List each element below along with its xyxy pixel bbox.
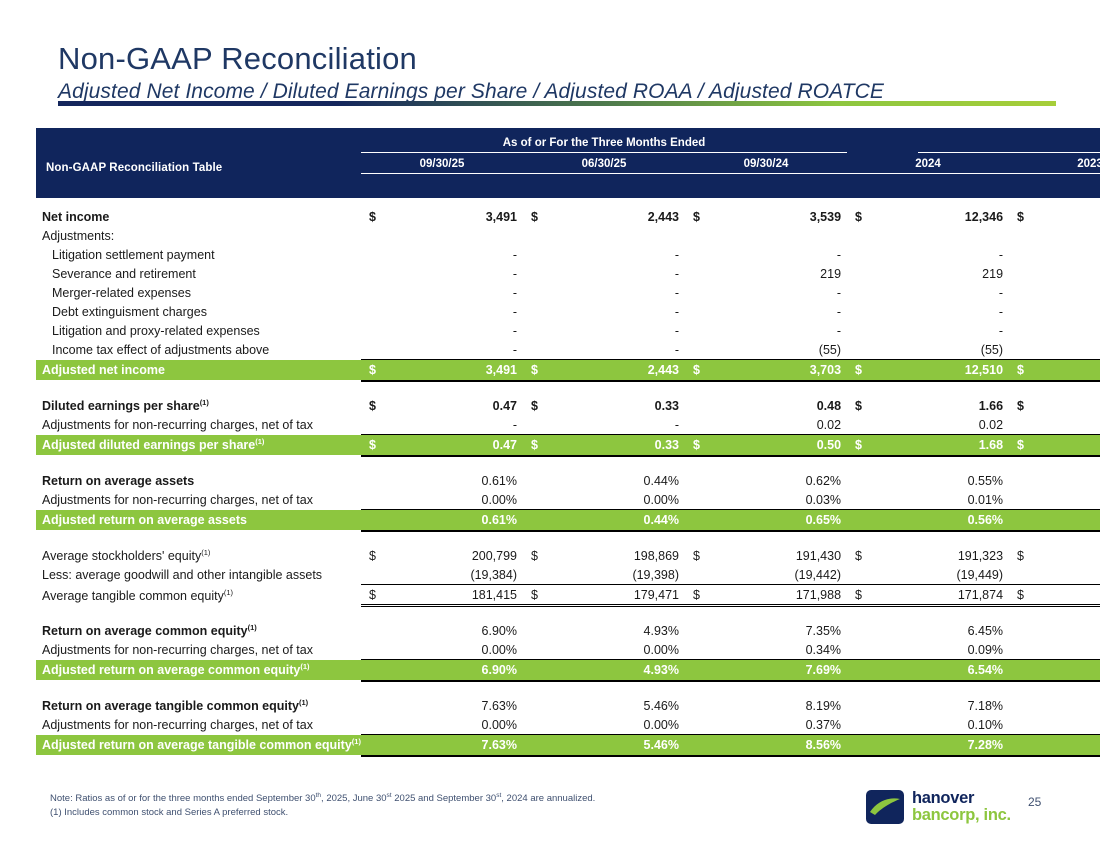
cell-currency — [1009, 715, 1080, 735]
logo-swoosh-icon — [866, 790, 904, 824]
table-row: Adjustments for non-recurring charges, n… — [36, 640, 1100, 660]
highlight-total-row: Adjusted return on average common equity… — [36, 660, 1100, 681]
cell-currency — [1009, 510, 1080, 531]
cell-value: 0.65% — [1080, 510, 1100, 531]
underline-seg — [918, 755, 1009, 756]
cell-value: 0.56% — [918, 510, 1009, 531]
cell-currency — [847, 735, 918, 756]
cell-currency: $ — [847, 396, 918, 415]
cell-currency — [685, 471, 756, 490]
cell-value: 8.24% — [1080, 735, 1100, 756]
cell-value: 12,346 — [918, 207, 1009, 226]
cell-currency: $ — [523, 546, 594, 565]
cell-currency — [685, 660, 756, 681]
cell-currency — [685, 490, 756, 510]
cell-currency — [361, 321, 432, 340]
row-label: Litigation and proxy-related expenses — [36, 321, 361, 340]
table-row: Diluted earnings per share(1)$0.47$0.330… — [36, 396, 1100, 415]
cell-currency — [361, 302, 432, 321]
cell-currency — [1009, 471, 1080, 490]
table-row: Adjustments for non-recurring charges, n… — [36, 415, 1100, 435]
cell-currency — [847, 715, 918, 735]
cell-currency — [361, 264, 432, 283]
row-label: Adjustments for non-recurring charges, n… — [36, 640, 361, 660]
cell-value: (19,442) — [756, 565, 847, 585]
cell-value: - — [1080, 283, 1100, 302]
cell-currency — [523, 510, 594, 531]
cell-currency: $ — [361, 360, 432, 381]
underline-seg — [594, 755, 685, 756]
cell-value: (19,384) — [432, 565, 523, 585]
cell-currency — [1009, 621, 1080, 640]
cell-value — [918, 226, 1009, 245]
highlight-total-row: Adjusted return on average tangible comm… — [36, 735, 1100, 756]
row-label: Adjusted return on average tangible comm… — [36, 735, 361, 756]
cell-value: 0.55% — [918, 471, 1009, 490]
cell-value: 6.45% — [918, 621, 1009, 640]
row-label: Net income — [36, 207, 361, 226]
title-block: Non-GAAP Reconciliation Adjusted Net Inc… — [58, 42, 1058, 104]
underline-seg — [756, 755, 847, 756]
cell-value: 191,430 — [756, 546, 847, 565]
cell-currency — [361, 640, 432, 660]
cell-value: - — [918, 302, 1009, 321]
cell-value: - — [756, 321, 847, 340]
underline-seg — [523, 755, 594, 756]
cell-value: 0.37% — [756, 715, 847, 735]
highlight-total-row: Adjusted diluted earnings per share(1)$0… — [36, 435, 1100, 456]
page-number: 25 — [1028, 795, 1041, 809]
cell-value: 219 — [756, 264, 847, 283]
spacer-cell — [36, 681, 1100, 696]
cell-currency: $ — [523, 585, 594, 606]
row-label: Average tangible common equity(1) — [36, 585, 361, 606]
cell-currency — [847, 245, 918, 264]
units-spacer — [36, 174, 361, 199]
page-title: Non-GAAP Reconciliation — [58, 42, 1058, 75]
cell-value: -0.09% — [1080, 715, 1100, 735]
cell-value: -0.01% — [1080, 490, 1100, 510]
spacer-cell — [36, 381, 1100, 396]
row-label: Average stockholders' equity(1) — [36, 546, 361, 565]
cell-currency — [361, 660, 432, 681]
cell-value: - — [432, 245, 523, 264]
cell-currency — [847, 302, 918, 321]
table-corner-label: Non-GAAP Reconciliation Table — [36, 128, 361, 174]
cell-value: 0.33 — [594, 435, 685, 456]
row-label: Litigation settlement payment — [36, 245, 361, 264]
cell-value: - — [594, 245, 685, 264]
table-row: Net income$3,491$2,443$3,539$12,346$13,5… — [36, 207, 1100, 226]
table-row: Less: average goodwill and other intangi… — [36, 565, 1100, 585]
cell-currency — [1009, 283, 1080, 302]
cell-value: 0.47 — [432, 435, 523, 456]
spacer-row — [36, 681, 1100, 696]
cell-value: - — [432, 283, 523, 302]
cell-currency — [523, 621, 594, 640]
cell-value — [432, 226, 523, 245]
cell-currency — [685, 715, 756, 735]
cell-currency: $ — [685, 585, 756, 606]
title-divider — [58, 101, 1056, 106]
total-underline-row — [36, 755, 1100, 756]
cell-value: 4.93% — [594, 660, 685, 681]
cell-value: 0.00% — [432, 640, 523, 660]
cell-currency: $ — [361, 207, 432, 226]
cell-currency — [685, 621, 756, 640]
row-label: Return on average common equity(1) — [36, 621, 361, 640]
cell-value: - — [594, 283, 685, 302]
cell-value: 7.28% — [918, 735, 1009, 756]
cell-value: (0.02) — [1080, 415, 1100, 435]
cell-value: 6.54% — [918, 660, 1009, 681]
spacer-cell — [36, 606, 1100, 622]
cell-currency — [523, 302, 594, 321]
cell-value: 0.02 — [756, 415, 847, 435]
cell-value: 182,700 — [1080, 546, 1100, 565]
cell-value: -0.08% — [1080, 640, 1100, 660]
underline-pad — [36, 755, 361, 756]
cell-value: 3,703 — [756, 360, 847, 381]
cell-value: 171,988 — [756, 585, 847, 606]
cell-value: 191,323 — [918, 546, 1009, 565]
table-row: Litigation and proxy-related expenses---… — [36, 321, 1100, 340]
row-label: Adjusted return on average assets — [36, 510, 361, 531]
cell-currency: $ — [1009, 435, 1080, 456]
logo-line2: bancorp, inc. — [912, 807, 1011, 824]
cell-value: 7.35% — [756, 621, 847, 640]
cell-currency — [1009, 226, 1080, 245]
cell-value: (19,515) — [1080, 565, 1100, 585]
cell-currency — [685, 735, 756, 756]
cell-value: 163,185 — [1080, 585, 1100, 606]
underline-seg — [1009, 755, 1080, 756]
cell-value: (55) — [756, 340, 847, 360]
cell-currency — [1009, 640, 1080, 660]
table-row: Litigation settlement payment----(975)--… — [36, 245, 1100, 264]
cell-currency — [523, 264, 594, 283]
spacer-cell — [36, 456, 1100, 471]
cell-currency — [523, 490, 594, 510]
cell-currency — [847, 696, 918, 715]
table-row: Severance and retirement--219219777--- — [36, 264, 1100, 283]
row-label: Income tax effect of adjustments above — [36, 340, 361, 360]
row-label: Debt extinguisment charges — [36, 302, 361, 321]
cell-value: 0.09% — [918, 640, 1009, 660]
cell-currency: $ — [847, 360, 918, 381]
cell-currency: $ — [1009, 546, 1080, 565]
group-header-years: As of or For the Years Ended December 31… — [918, 128, 1100, 153]
cell-currency — [361, 226, 432, 245]
cell-currency — [847, 321, 918, 340]
cell-value: 1.84 — [1080, 396, 1100, 415]
cell-value: 219 — [918, 264, 1009, 283]
cell-currency — [523, 565, 594, 585]
table-header-group-row: Non-GAAP Reconciliation TableAs of or Fo… — [36, 128, 1100, 153]
cell-currency — [1009, 696, 1080, 715]
row-label: Diluted earnings per share(1) — [36, 396, 361, 415]
footnote-note: Note: Ratios as of or for the three mont… — [50, 792, 595, 806]
cell-value: 6.90% — [432, 660, 523, 681]
logo-line1: hanover — [912, 790, 1011, 807]
cell-value: 0.44% — [594, 471, 685, 490]
cell-currency: $ — [523, 396, 594, 415]
cell-currency: $ — [847, 435, 918, 456]
cell-value: 0.65% — [756, 510, 847, 531]
cell-value: 7.18% — [918, 696, 1009, 715]
cell-value: 179,471 — [594, 585, 685, 606]
spacer-row — [36, 531, 1100, 546]
column-header-06-30-25: 06/30/25 — [523, 153, 685, 174]
cell-value: - — [918, 245, 1009, 264]
cell-value: 8.33% — [1080, 696, 1100, 715]
cell-currency — [847, 621, 918, 640]
cell-value: - — [756, 302, 847, 321]
cell-currency — [1009, 264, 1080, 283]
cell-value — [1080, 226, 1100, 245]
table-row: Return on average common equity(1)6.90%4… — [36, 621, 1100, 640]
cell-value: 0.44% — [594, 510, 685, 531]
cell-currency: $ — [1009, 585, 1080, 606]
spacer-row — [36, 198, 1100, 207]
row-label: Return on average assets — [36, 471, 361, 490]
cell-currency — [847, 510, 918, 531]
cell-value: 0.03% — [756, 490, 847, 510]
cell-currency: $ — [1009, 207, 1080, 226]
cell-currency — [361, 621, 432, 640]
cell-value: 5.46% — [594, 696, 685, 715]
cell-value: 13,448 — [1080, 360, 1100, 381]
cell-currency — [361, 415, 432, 435]
cell-currency: $ — [847, 546, 918, 565]
column-header-2023: 2023 — [1009, 153, 1100, 174]
underline-seg — [361, 755, 432, 756]
cell-value: (19,449) — [918, 565, 1009, 585]
cell-currency — [523, 283, 594, 302]
cell-currency — [685, 396, 756, 415]
cell-value: 0.33 — [594, 396, 685, 415]
row-label: Adjustments: — [36, 226, 361, 245]
cell-currency — [1009, 735, 1080, 756]
cell-currency: $ — [523, 207, 594, 226]
cell-currency — [523, 415, 594, 435]
cell-value: 0.62% — [756, 471, 847, 490]
cell-currency — [847, 660, 918, 681]
cell-currency — [847, 264, 918, 283]
row-label: Adjusted net income — [36, 360, 361, 381]
cell-currency: $ — [523, 360, 594, 381]
cell-currency: $ — [847, 207, 918, 226]
highlight-total-row: Adjusted net income$3,491$2,443$3,703$12… — [36, 360, 1100, 381]
cell-value: 1.68 — [918, 435, 1009, 456]
cell-currency — [685, 302, 756, 321]
cell-currency: $ — [1009, 396, 1080, 415]
cell-value: - — [432, 302, 523, 321]
spacer-cell — [36, 531, 1100, 546]
cell-currency: $ — [685, 546, 756, 565]
cell-value: 0.00% — [432, 715, 523, 735]
cell-value: - — [918, 321, 1009, 340]
cell-value: 0.50 — [756, 435, 847, 456]
row-label: Adjusted diluted earnings per share(1) — [36, 435, 361, 456]
cell-currency — [1009, 565, 1080, 585]
cell-value: 3,491 — [432, 207, 523, 226]
cell-currency — [1009, 245, 1080, 264]
cell-value: - — [594, 415, 685, 435]
cell-value: 181,415 — [432, 585, 523, 606]
cell-value: 198,869 — [594, 546, 685, 565]
cell-currency — [523, 340, 594, 360]
cell-currency — [1009, 415, 1080, 435]
slide: Non-GAAP Reconciliation Adjusted Net Inc… — [0, 0, 1100, 849]
cell-value: 200,799 — [432, 546, 523, 565]
footnote-1: (1) Includes common stock and Series A p… — [50, 806, 595, 820]
footnotes: Note: Ratios as of or for the three mont… — [50, 792, 595, 821]
cell-currency: $ — [685, 360, 756, 381]
cell-value: 0.00% — [594, 490, 685, 510]
row-label: Severance and retirement — [36, 264, 361, 283]
cell-value: 13,589 — [1080, 207, 1100, 226]
row-label: Return on average tangible common equity… — [36, 696, 361, 715]
table-row: Adjustments for non-recurring charges, n… — [36, 490, 1100, 510]
cell-currency: $ — [1009, 360, 1080, 381]
cell-currency — [523, 321, 594, 340]
cell-value: - — [594, 321, 685, 340]
cell-currency — [1009, 660, 1080, 681]
cell-currency: $ — [523, 435, 594, 456]
cell-currency — [361, 696, 432, 715]
cell-value: 777 — [1080, 264, 1100, 283]
cell-value: 0.34% — [756, 640, 847, 660]
table-row: Income tax effect of adjustments above--… — [36, 340, 1100, 360]
cell-value: 3,491 — [432, 360, 523, 381]
cell-currency: $ — [361, 585, 432, 606]
table-body: Non-GAAP Reconciliation TableAs of or Fo… — [36, 128, 1100, 756]
cell-value: 5.46% — [594, 735, 685, 756]
cell-value: - — [594, 302, 685, 321]
cell-value: 0.01% — [918, 490, 1009, 510]
cell-currency — [361, 735, 432, 756]
cell-currency — [523, 471, 594, 490]
spacer-row — [36, 456, 1100, 471]
cell-currency — [361, 565, 432, 585]
cell-currency: $ — [361, 396, 432, 415]
header-gap — [847, 128, 918, 153]
cell-currency — [847, 226, 918, 245]
logo-text: hanover bancorp, inc. — [912, 790, 1011, 824]
cell-value: 57 — [1080, 340, 1100, 360]
table-row: Adjustments: — [36, 226, 1100, 245]
cell-currency: $ — [685, 435, 756, 456]
cell-value: 8.56% — [756, 735, 847, 756]
cell-value: - — [432, 340, 523, 360]
cell-value: - — [432, 321, 523, 340]
cell-value: - — [594, 340, 685, 360]
cell-currency — [847, 340, 918, 360]
cell-value: - — [918, 283, 1009, 302]
cell-value: 3,539 — [756, 207, 847, 226]
cell-currency — [1009, 490, 1080, 510]
cell-currency — [847, 283, 918, 302]
cell-value: - — [432, 415, 523, 435]
row-label: Merger-related expenses — [36, 283, 361, 302]
cell-currency — [685, 264, 756, 283]
cell-currency — [685, 415, 756, 435]
cell-currency — [685, 283, 756, 302]
cell-value: 7.63% — [432, 735, 523, 756]
column-header-2024: 2024 — [847, 153, 1009, 174]
cell-currency — [1009, 321, 1080, 340]
cell-currency: $ — [685, 207, 756, 226]
cell-value: 2,443 — [594, 360, 685, 381]
cell-currency — [847, 565, 918, 585]
cell-value — [756, 226, 847, 245]
cell-currency — [523, 226, 594, 245]
cell-value: 171,874 — [918, 585, 1009, 606]
non-gaap-reconciliation-table: Non-GAAP Reconciliation TableAs of or Fo… — [36, 128, 1100, 757]
spacer-row — [36, 381, 1100, 396]
cell-currency — [361, 490, 432, 510]
cell-value: - — [756, 245, 847, 264]
cell-value: - — [1080, 302, 1100, 321]
cell-value: 4.93% — [594, 621, 685, 640]
cell-currency — [361, 340, 432, 360]
cell-value: 1.82 — [1080, 435, 1100, 456]
cell-value: 0.48 — [756, 396, 847, 415]
cell-value: (975) — [1080, 245, 1100, 264]
underline-seg — [1080, 755, 1100, 756]
cell-value: 7.63% — [432, 696, 523, 715]
column-header-09-30-25: 09/30/25 — [361, 153, 523, 174]
cell-currency — [685, 696, 756, 715]
cell-currency — [1009, 340, 1080, 360]
cell-currency — [1009, 302, 1080, 321]
cell-currency — [361, 471, 432, 490]
cell-value: 0.10% — [918, 715, 1009, 735]
cell-currency — [847, 490, 918, 510]
cell-currency — [361, 245, 432, 264]
cell-currency — [523, 735, 594, 756]
cell-currency — [523, 715, 594, 735]
cell-value: 0.00% — [594, 715, 685, 735]
table-row: Return on average assets0.61%0.44%0.62%0… — [36, 471, 1100, 490]
table-row: Average tangible common equity(1)$181,41… — [36, 585, 1100, 606]
cell-value: 0.61% — [432, 471, 523, 490]
cell-value: 7.36% — [1080, 660, 1100, 681]
cell-currency: $ — [361, 546, 432, 565]
table-row: Return on average tangible common equity… — [36, 696, 1100, 715]
cell-currency — [685, 226, 756, 245]
cell-currency — [847, 415, 918, 435]
cell-currency — [685, 321, 756, 340]
cell-value: (55) — [918, 340, 1009, 360]
cell-value: 0.00% — [594, 640, 685, 660]
underline-seg — [685, 755, 756, 756]
row-label: Adjustments for non-recurring charges, n… — [36, 415, 361, 435]
row-label: Adjusted return on average common equity… — [36, 660, 361, 681]
cell-currency — [685, 340, 756, 360]
table-row: Average stockholders' equity(1)$200,799$… — [36, 546, 1100, 565]
cell-value: 7.69% — [756, 660, 847, 681]
underline-seg — [847, 755, 918, 756]
table-row: Debt extinguisment charges-------54 — [36, 302, 1100, 321]
underline-seg — [432, 755, 523, 756]
cell-currency — [361, 510, 432, 531]
cell-currency — [361, 715, 432, 735]
cell-currency — [523, 245, 594, 264]
cell-value: - — [594, 264, 685, 283]
table-units-row: (dollars in thousands, except per share … — [36, 174, 1100, 199]
